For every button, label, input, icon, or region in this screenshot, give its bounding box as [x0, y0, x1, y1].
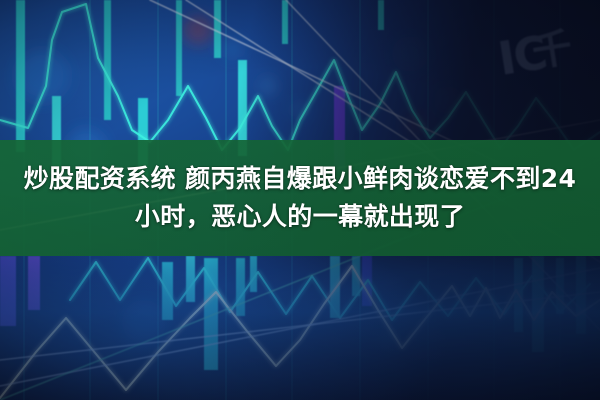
headline-text-block: 炒股配资系统 颜丙燕自爆跟小鲜肉谈恋爱不到24 小时，恶心人的一幕就出现了	[0, 140, 600, 256]
headline-line-2: 小时，恶心人的一幕就出现了	[135, 198, 465, 236]
screenshot-canvas: IC 千 炒股配资系统 颜丙燕自爆跟小鲜肉谈恋爱不到24 小时，恶心人的一幕就出…	[0, 0, 600, 400]
headline-line-1: 炒股配资系统 颜丙燕自爆跟小鲜肉谈恋爱不到24	[24, 160, 577, 198]
